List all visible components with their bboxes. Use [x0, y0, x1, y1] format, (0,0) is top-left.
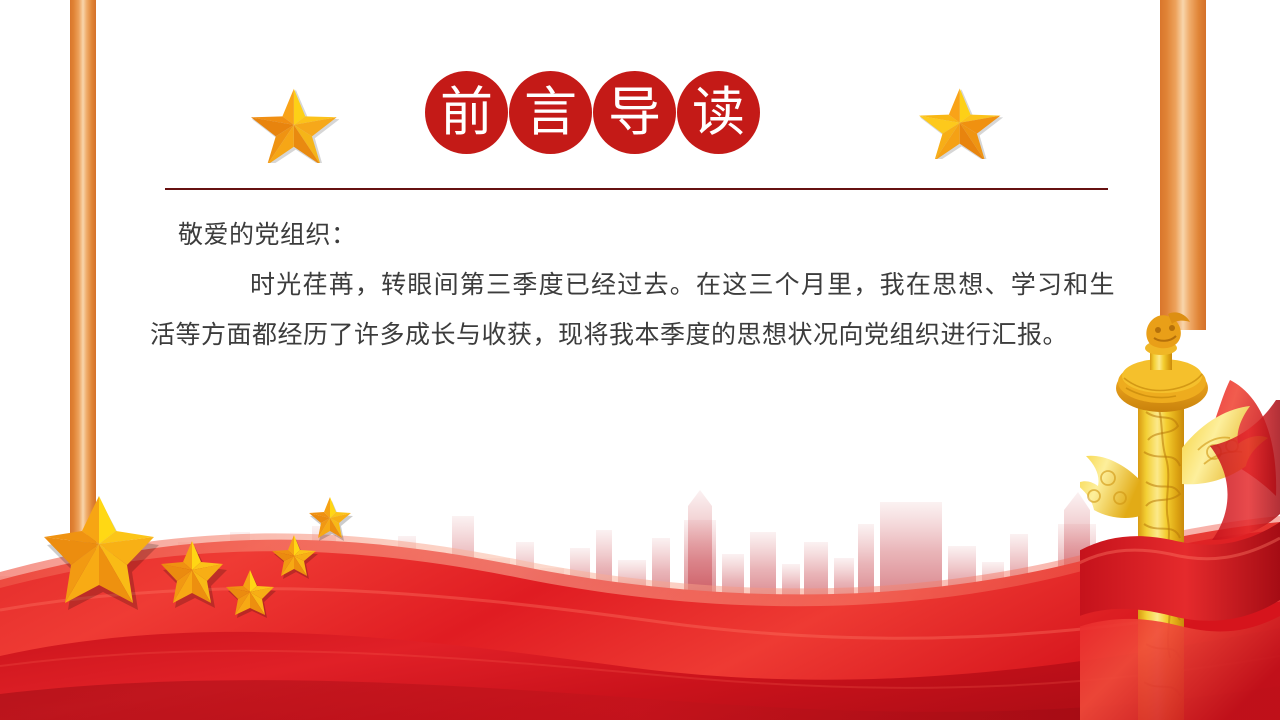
gold-pillar-left	[70, 0, 96, 566]
flag-star-small-3	[272, 535, 318, 579]
gold-pillar-right	[1160, 0, 1206, 330]
gold-star-icon-right	[911, 83, 1003, 159]
title-circle-yan: 言	[509, 71, 592, 154]
salutation-line: 敬爱的党组织：	[150, 210, 1115, 260]
city-skyline-silhouette	[0, 472, 1280, 612]
title-circle-qian: 前	[425, 71, 508, 154]
golden-huabiao-column	[1080, 300, 1280, 720]
red-silk-ribbon-artwork	[0, 460, 1280, 720]
flag-star-small-1	[161, 541, 227, 608]
title-divider	[165, 188, 1108, 190]
flag-star-large	[44, 496, 159, 610]
flag-star-small-4	[309, 497, 353, 541]
slide-canvas: 前 言 导 读 敬爱的党组织： 时光荏苒，转眼间第三季度已经过去。在这三个月里，…	[0, 0, 1280, 720]
flag-star-small-2	[226, 570, 276, 618]
body-text-block: 敬爱的党组织： 时光荏苒，转眼间第三季度已经过去。在这三个月里，我在思想、学习和…	[150, 210, 1115, 360]
title-circle-dao: 导	[593, 71, 676, 154]
gold-star-icon-left	[243, 83, 339, 163]
title-circle-du: 读	[677, 71, 760, 154]
slide-title: 前 言 导 读	[425, 71, 760, 154]
body-paragraph: 时光荏苒，转眼间第三季度已经过去。在这三个月里，我在思想、学习和生活等方面都经历…	[150, 260, 1115, 360]
